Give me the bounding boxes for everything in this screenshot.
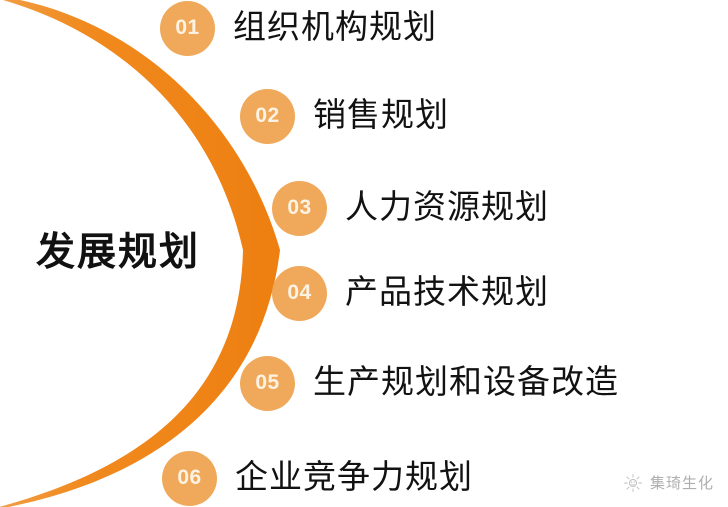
step-number-badge: 04 <box>272 266 327 321</box>
step-item-03[interactable]: 03 人力资源规划 <box>272 180 549 236</box>
step-item-06[interactable]: 06 企业竞争力规划 <box>162 450 473 506</box>
step-number-badge: 05 <box>240 356 295 411</box>
step-item-05[interactable]: 05 生产规划和设备改造 <box>240 355 619 411</box>
page-title: 发展规划 <box>36 230 266 276</box>
step-number-badge: 01 <box>160 1 215 56</box>
step-number-badge: 06 <box>162 451 217 506</box>
step-number-badge: 03 <box>272 181 327 236</box>
step-label: 生产规划和设备改造 <box>313 363 619 403</box>
watermark-text: 集琦生化 <box>650 472 714 493</box>
step-item-01[interactable]: 01 组织机构规划 <box>160 0 437 56</box>
slide-canvas: 发展规划 01 组织机构规划 02 销售规划 03 人力资源规划 04 产品技术… <box>0 0 728 507</box>
step-label: 企业竞争力规划 <box>235 458 473 498</box>
step-label: 销售规划 <box>313 96 449 136</box>
step-item-04[interactable]: 04 产品技术规划 <box>272 265 549 321</box>
step-number-badge: 02 <box>240 89 295 144</box>
watermark: 集琦生化 <box>623 472 714 493</box>
step-label: 组织机构规划 <box>233 8 437 48</box>
step-label: 产品技术规划 <box>345 273 549 313</box>
step-item-02[interactable]: 02 销售规划 <box>240 88 449 144</box>
step-label: 人力资源规划 <box>345 188 549 228</box>
sun-flower-icon <box>623 473 643 493</box>
